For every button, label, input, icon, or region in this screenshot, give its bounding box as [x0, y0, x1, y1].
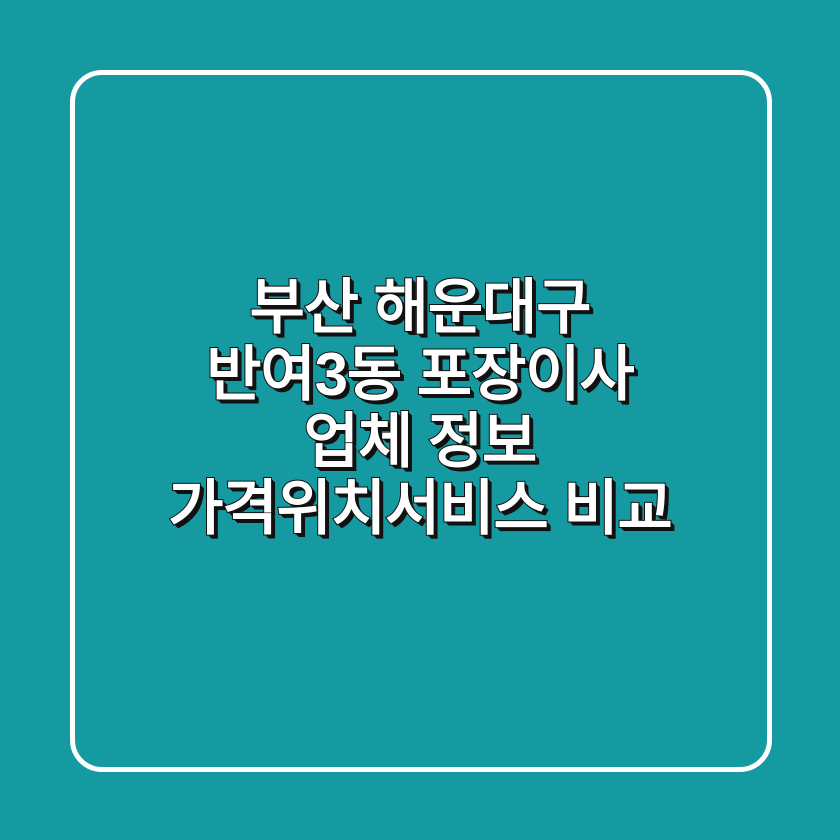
- headline-line-1: 부산 해운대구: [24, 274, 816, 341]
- headline-line-2: 반여3동 포장이사: [24, 341, 816, 408]
- headline-line-3: 업체 정보: [24, 408, 816, 475]
- poster-canvas: 부산 해운대구 반여3동 포장이사 업체 정보 가격위치서비스 비교: [0, 0, 840, 840]
- headline-line-4: 가격위치서비스 비교: [24, 475, 816, 542]
- headline-text-block: 부산 해운대구 반여3동 포장이사 업체 정보 가격위치서비스 비교: [0, 274, 840, 542]
